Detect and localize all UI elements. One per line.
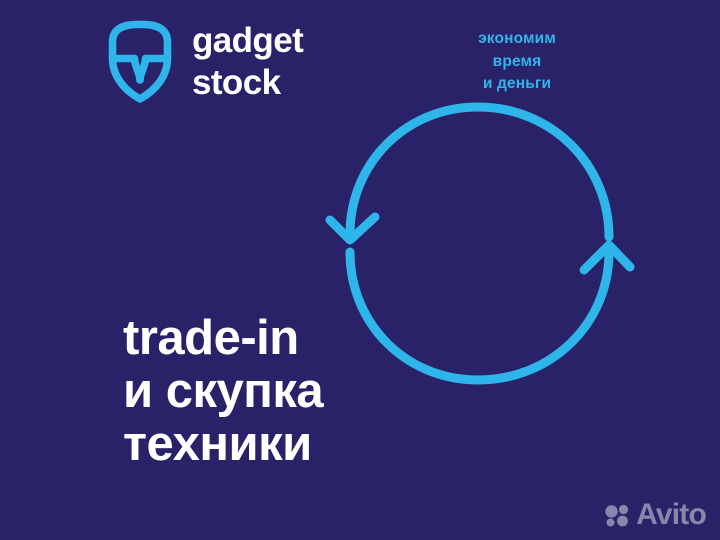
headline-line-1: trade-in (123, 312, 323, 365)
headline-line-3: техники (123, 418, 323, 471)
brand-wordmark: gadget stock (192, 23, 303, 100)
brand-name-line-2: stock (192, 65, 303, 100)
tagline-line-1: экономим (432, 28, 602, 51)
avito-dots-icon (605, 503, 631, 527)
tagline: экономим время и деньги (432, 28, 602, 96)
avito-wordmark: Avito (636, 500, 706, 530)
brand-name-line-1: gadget (192, 23, 303, 58)
headline-line-2: и скупка (123, 365, 323, 418)
cycle-arrows-icon (318, 92, 638, 392)
shield-logo-icon (104, 18, 176, 104)
avito-watermark: Avito (605, 500, 706, 530)
promo-poster: gadget stock экономим время и деньги tra… (0, 0, 720, 540)
headline: trade-in и скупка техники (123, 312, 323, 471)
brand-lockup: gadget stock (104, 18, 303, 104)
tagline-line-2: время (432, 51, 602, 74)
